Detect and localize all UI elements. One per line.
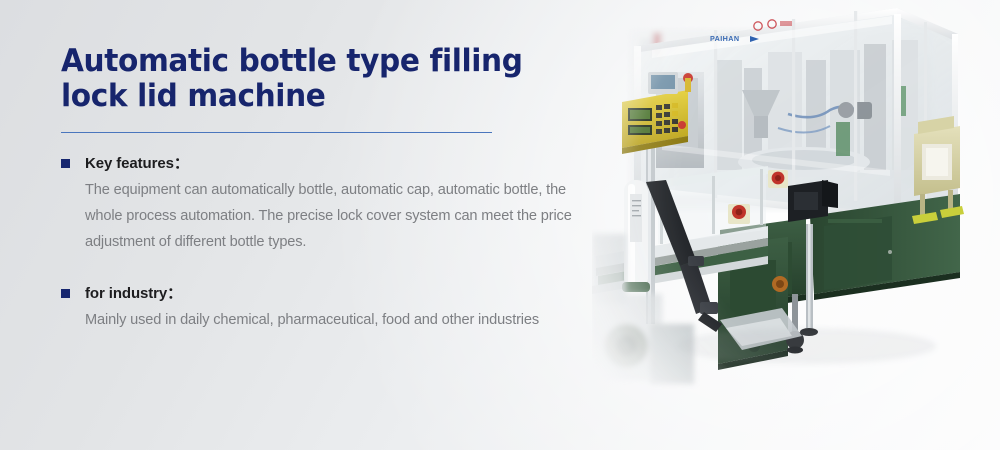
square-bullet-icon <box>61 289 70 298</box>
product-shadow <box>676 328 936 364</box>
section-body: Mainly used in daily chemical, pharmaceu… <box>85 307 601 333</box>
product-photo: PAIHAN <box>592 0 1000 450</box>
estop-indicator-icon <box>678 121 686 129</box>
feature-section-key-features: Key features： The equipment can automati… <box>61 154 601 255</box>
feature-section-for-industry: for industry： Mainly used in daily chemi… <box>61 284 601 333</box>
section-heading: for industry： <box>61 284 601 303</box>
square-bullet-icon <box>61 159 70 168</box>
section-heading: Key features： <box>61 154 601 173</box>
page-title-line-2: lock lid machine <box>61 78 325 114</box>
title-divider <box>61 132 492 133</box>
bottle-tube <box>622 180 650 292</box>
svg-text:PAIHAN: PAIHAN <box>710 34 739 43</box>
section-heading-label: for industry： <box>85 285 182 302</box>
section-body: The equipment can automatically bottle, … <box>85 177 601 255</box>
section-heading-label: Key features： <box>85 155 189 172</box>
page-title-line-1: Automatic bottle type filling <box>61 43 523 79</box>
copy-column: Automatic bottle type filling lock lid m… <box>61 44 601 333</box>
product-banner: Automatic bottle type filling lock lid m… <box>0 0 1000 450</box>
page-title: Automatic bottle type filling lock lid m… <box>61 44 577 114</box>
